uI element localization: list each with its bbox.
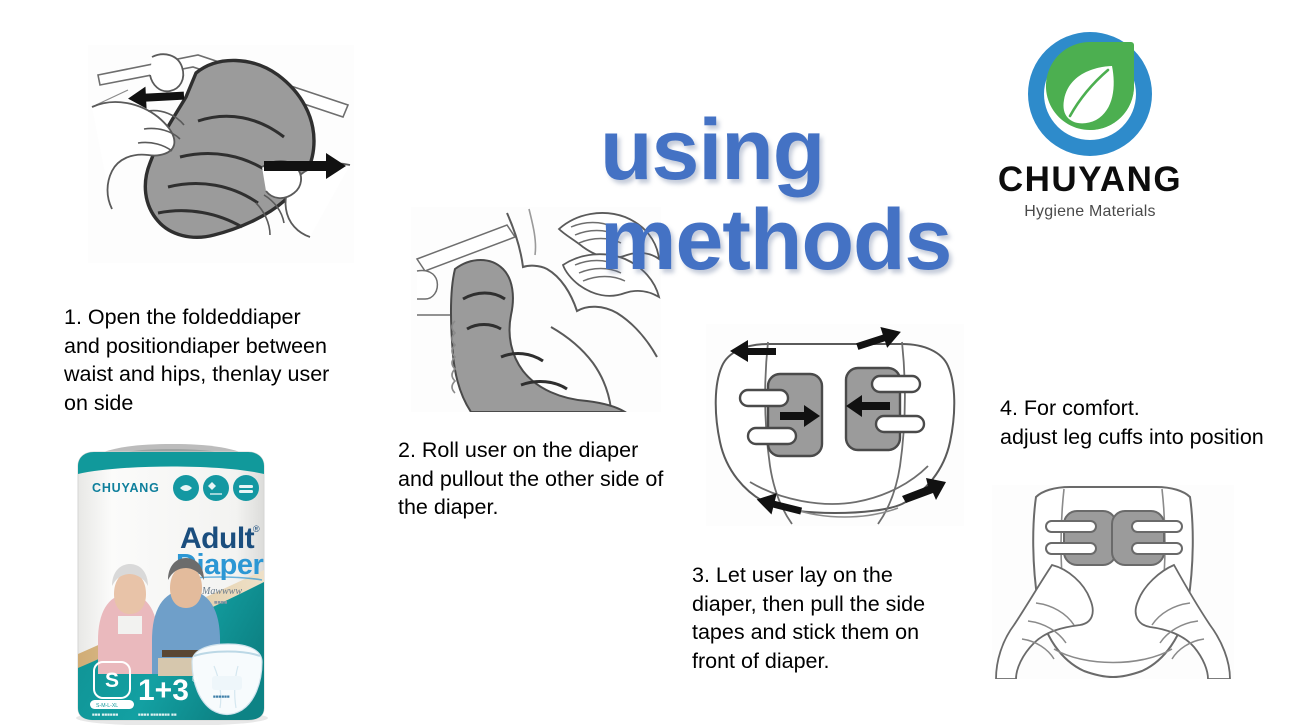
- step-1-caption: 1. Open the foldeddiaper and positiondia…: [64, 303, 394, 417]
- svg-text:S: S: [105, 669, 119, 692]
- step-4-caption: 4. For comfort. adjust leg cuffs into po…: [1000, 394, 1306, 451]
- brand-tagline: Hygiene Materials: [980, 203, 1200, 221]
- svg-text:■■■■■■: ■■■■■■: [213, 694, 230, 699]
- brand-logo-block: CHUYANG Hygiene Materials: [980, 28, 1200, 221]
- step-3-illustration: [706, 324, 964, 526]
- svg-text:1+3: 1+3: [138, 674, 189, 707]
- svg-text:®: ®: [192, 675, 198, 684]
- svg-text:■■■■: ■■■■: [214, 600, 227, 606]
- svg-text:S-M-L-XL: S-M-L-XL: [96, 703, 118, 709]
- step-3-caption: 3. Let user lay on the diaper, then pull…: [692, 561, 992, 675]
- step-1-illustration: [88, 45, 354, 263]
- slide-canvas: 1. Open the foldeddiaper and positiondia…: [0, 0, 1306, 725]
- step-2-caption: 2. Roll user on the diaper and pullout t…: [398, 436, 728, 522]
- svg-text:■■■ ■■■■■■: ■■■ ■■■■■■: [92, 712, 118, 717]
- step-4-illustration: [992, 485, 1234, 679]
- svg-text:Mawwww: Mawwww: [201, 586, 242, 597]
- svg-text:CHUYANG: CHUYANG: [92, 481, 160, 495]
- svg-text:■■■■ ■■■■■■■ ■■: ■■■■ ■■■■■■■ ■■: [138, 712, 177, 717]
- product-package-image: CHUYANG Adult ® Diaper Mawwww: [62, 444, 277, 725]
- leaf-in-circle-logo-icon: [1024, 28, 1156, 160]
- brand-wordmark: CHUYANG: [980, 162, 1200, 199]
- svg-text:®: ®: [253, 524, 260, 534]
